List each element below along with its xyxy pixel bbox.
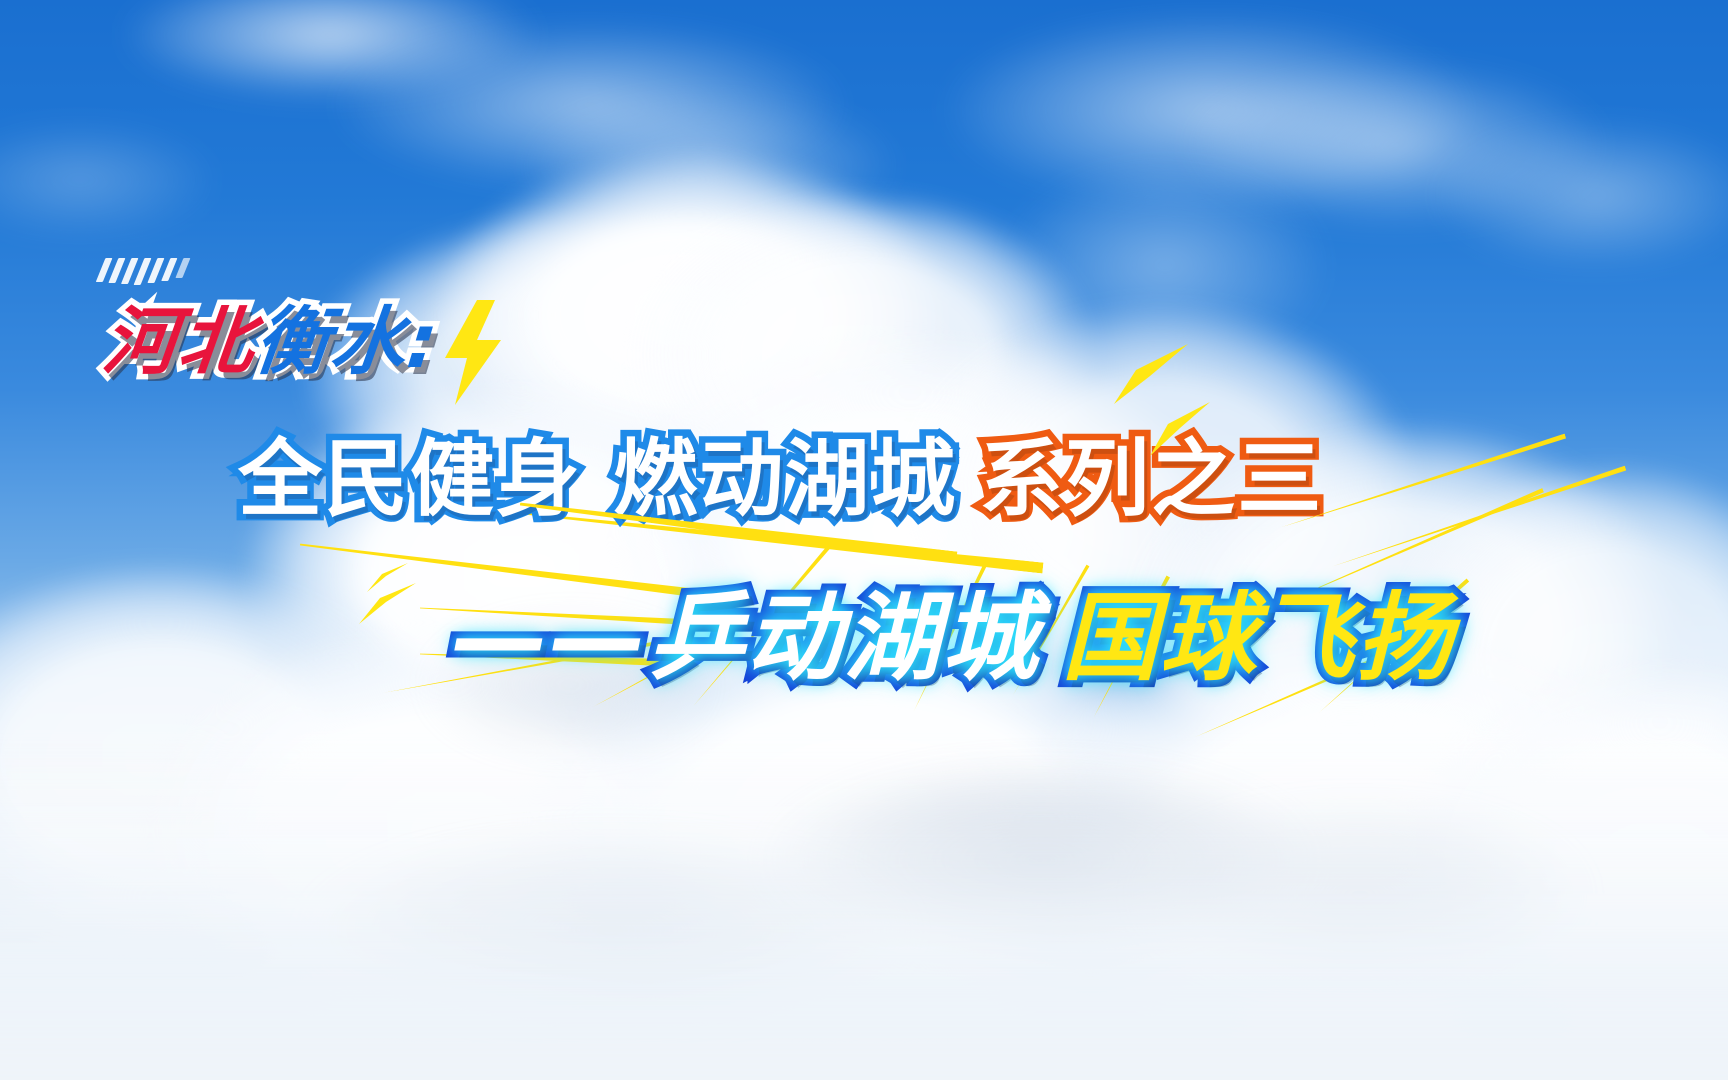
headline-line-1-segment-red: 河北: [98, 282, 261, 389]
headline-line-3-segment-white: ——乒动湖城: [452, 582, 1040, 694]
headline-line-2-segment-orange-outline: 系列之三: [979, 430, 1323, 528]
title-card-stage: 河北衡水: 全民健身 燃动湖城系列之三 ——乒动湖城国球飞扬: [0, 0, 1728, 1080]
speed-ticks: [95, 258, 191, 285]
headline-line-3: ——乒动湖城国球飞扬: [452, 560, 1454, 699]
headline-line-2: 全民健身 燃动湖城系列之三: [238, 412, 1323, 533]
headline-line-2-segment-blue-outline: 全民健身 燃动湖城: [238, 430, 957, 528]
headline-line-1: 河北衡水:: [98, 282, 445, 389]
headline-line-3-segment-yellow: 国球飞扬: [1062, 582, 1454, 694]
headline-line-1-segment-blue: 衡水:: [250, 282, 445, 389]
